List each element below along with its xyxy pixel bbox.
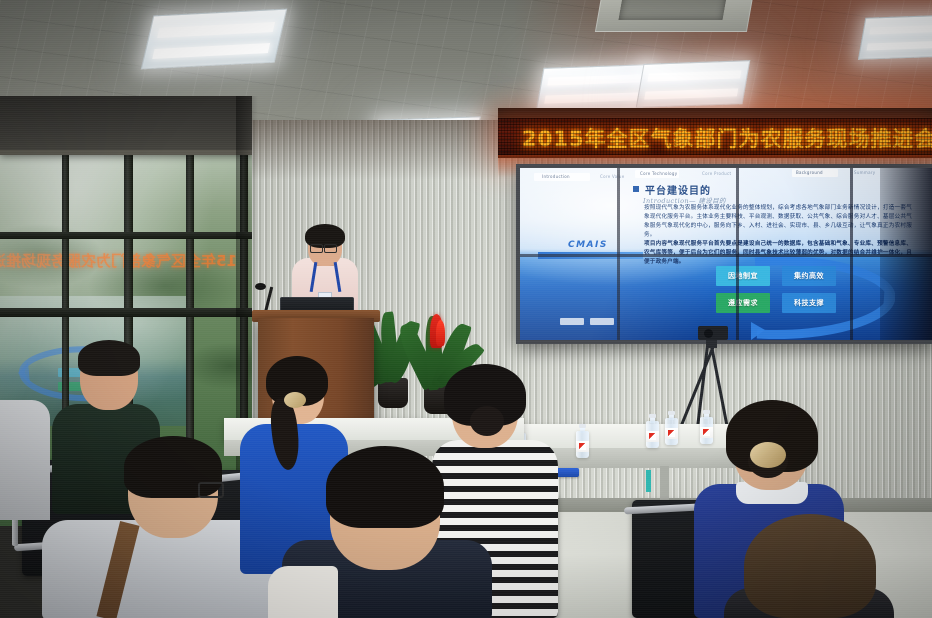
led-banner-text: 2015年全区气象部门为农服务现场推进会 xyxy=(498,118,932,158)
slide-tab-label: Background xyxy=(796,170,823,175)
camera-lens-icon xyxy=(704,329,713,338)
slide-tab-label: Introduction xyxy=(542,174,570,179)
presenter-glasses-icon xyxy=(310,244,323,253)
audience-member-hair-bun xyxy=(470,406,504,436)
slide-chip-1: 因地制宜 xyxy=(716,266,770,286)
conference-room-photo: 2015年全区气象部门为农服务现场推进会 Introduction Core V… xyxy=(0,0,932,618)
table-leg xyxy=(660,466,669,500)
slide-tab-label: Core Technology xyxy=(640,171,677,176)
slide-tab-label: Core Value xyxy=(600,174,625,179)
slide-mini-button[interactable] xyxy=(590,318,614,325)
air-conditioner-grille xyxy=(618,0,729,20)
microphone-icon xyxy=(255,283,266,290)
red-bromeliad-bloom xyxy=(436,320,445,346)
ceiling-light-fixture xyxy=(141,9,287,70)
audience-member-sleeve xyxy=(268,566,338,618)
video-wall-right-falloff xyxy=(880,168,932,340)
presenter-glasses-icon xyxy=(324,244,337,253)
audience-member-hair xyxy=(744,514,876,618)
window-mullion-horizontal xyxy=(0,232,252,239)
hair-scrunchie xyxy=(750,442,786,468)
slide-chip-2: 集约高效 xyxy=(782,266,836,286)
slide-chip-3: 遵应需求 xyxy=(716,293,770,313)
window-roller-blind-bottom-bar xyxy=(0,150,252,155)
hair-scrunchie xyxy=(284,392,306,408)
video-camera-icon[interactable] xyxy=(698,326,728,340)
water-bottle[interactable] xyxy=(576,424,589,458)
water-bottle[interactable] xyxy=(646,414,659,448)
led-banner: 2015年全区气象部门为农服务现场推进会 xyxy=(498,118,932,158)
slide-tab-label: Summary xyxy=(854,170,875,175)
slide-chip-4: 科技支撑 xyxy=(782,293,836,313)
teal-marker-strip xyxy=(646,470,651,492)
presentation-slide: Introduction Core Value Core Technology … xyxy=(520,168,932,340)
slide-tab-label: Core Product xyxy=(702,171,731,176)
slide-paragraph-1: 按照现代气象为农服务体系现代化业务的整体规划，综合考虑各地气象部门业务新情况设计… xyxy=(644,204,912,240)
audience-member-hair xyxy=(78,340,140,376)
slide-title-bullet-icon xyxy=(633,186,639,192)
slide-logo-text: CMAIS xyxy=(568,240,608,250)
video-wall-bezel-seam xyxy=(520,254,932,257)
water-bottle[interactable] xyxy=(665,411,678,445)
slide-mini-button[interactable] xyxy=(560,318,584,325)
audience-member-hair xyxy=(326,446,444,528)
conference-table xyxy=(520,424,755,450)
window-mullion-horizontal xyxy=(0,308,252,317)
slide-button-row xyxy=(560,318,614,325)
water-bottle[interactable] xyxy=(700,410,713,444)
eyeglasses-icon xyxy=(198,482,224,498)
window-roller-blind[interactable] xyxy=(0,96,252,154)
audience-member-shoulder xyxy=(0,400,50,520)
